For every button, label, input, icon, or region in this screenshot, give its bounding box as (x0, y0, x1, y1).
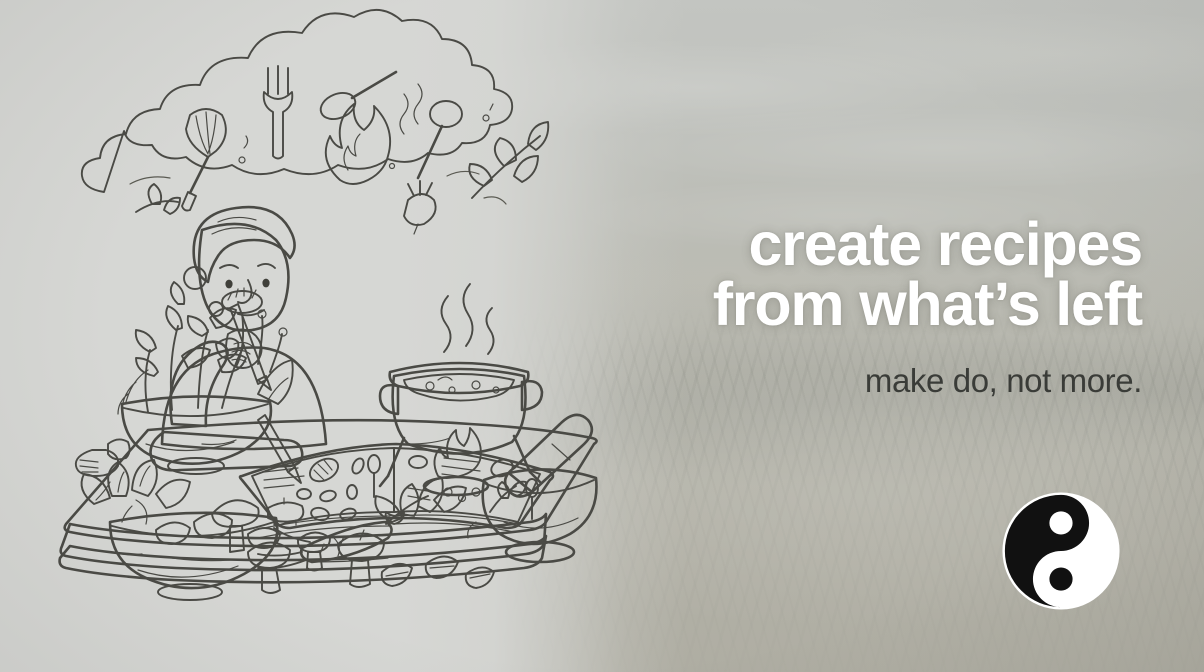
herb-sprig-icon (469, 122, 548, 198)
eye (225, 280, 232, 289)
steam-squiggle (414, 84, 422, 124)
eye (262, 279, 269, 288)
poster-canvas: .ink { stroke:#4a4a45; fill:none; stroke… (0, 0, 1204, 672)
ladle-icon (418, 101, 462, 178)
steam-wisp (486, 308, 493, 354)
spoon-icon (317, 72, 396, 124)
book-spoon-icon (368, 455, 380, 497)
thought-cloud (82, 10, 548, 316)
headline-line-2: from what’s left (622, 274, 1142, 334)
sparkle-dot (483, 115, 489, 121)
book-page-left-content (264, 454, 380, 525)
yin-yang-logo (1000, 490, 1122, 612)
sparkle-tick (244, 136, 248, 148)
eyebrow (258, 264, 275, 268)
steam-wisp (441, 296, 450, 352)
leafy-greens (82, 460, 190, 508)
sparkle-tick (490, 104, 493, 110)
book-squash-icon (268, 498, 303, 525)
beet-icon (404, 181, 436, 234)
thinking-cook (76, 207, 326, 476)
headline-line-1: create recipes (748, 210, 1142, 278)
leaf-sprig-icon (136, 184, 180, 214)
tagline: make do, not more. (622, 335, 1142, 399)
eyebrow (220, 265, 238, 268)
steam-wisp (463, 284, 472, 346)
steam-squiggle (400, 94, 408, 134)
sparkle-dot (239, 157, 245, 163)
herb-bowl (118, 282, 293, 474)
copy-block: create recipes from what’s left make do,… (622, 214, 1142, 399)
fork-icon (264, 66, 293, 159)
sparkle-dot (390, 164, 395, 169)
flame-icon (326, 104, 390, 184)
page-title: create recipes from what’s left (622, 214, 1142, 335)
illustration-person-thinking-at-prep-table: .ink { stroke:#4a4a45; fill:none; stroke… (52, 52, 612, 620)
mushroom-bowl (82, 460, 280, 600)
